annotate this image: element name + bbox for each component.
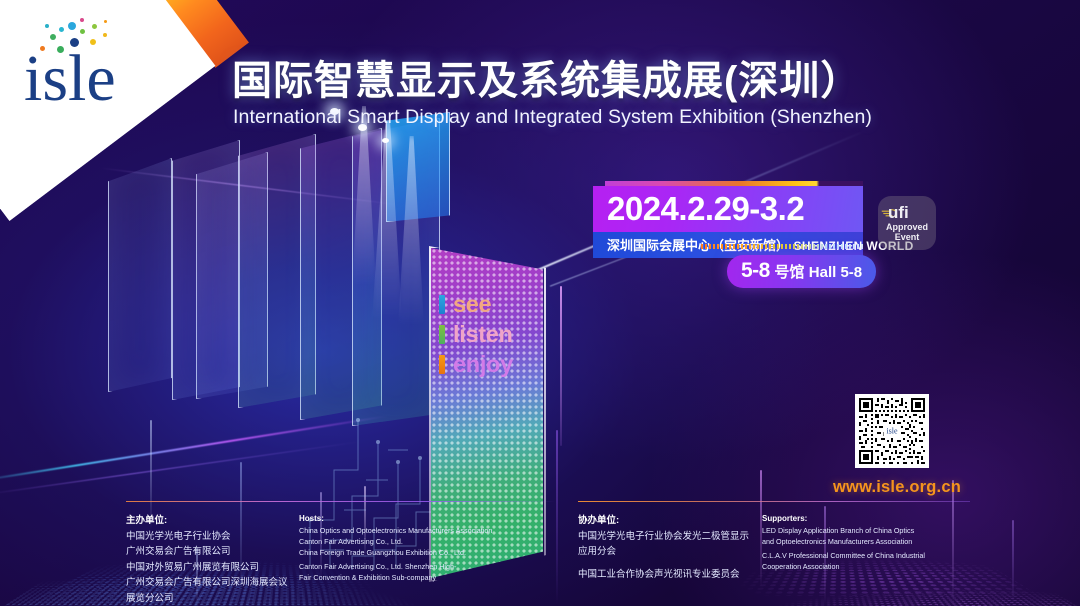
logo-dot — [92, 24, 97, 29]
logo-dot — [80, 18, 84, 22]
footer-divider-right — [578, 501, 970, 502]
logo-dot — [80, 29, 85, 34]
footer-column-hosts-cn: 主办单位: 中国光学光电子行业协会 广州交易会广告有限公司 中国对外贸易广州展览… — [126, 512, 296, 606]
ufi-approved-label: Approved — [878, 222, 936, 232]
logo-dot — [59, 27, 64, 32]
hall-number: 5-8 — [741, 259, 770, 282]
led-slogan-text: see — [453, 291, 491, 317]
footer-line: and Optoelectronics Manufacturers Associ… — [762, 537, 962, 548]
ufi-label: ufi — [888, 203, 946, 222]
hall-label-en: Hall 5-8 — [809, 264, 862, 281]
footer-heading: Hosts: — [299, 514, 509, 523]
footer-line: Cooperation Association — [762, 562, 962, 573]
led-accent-tick — [439, 295, 445, 314]
led-slogan-line: listen — [453, 322, 549, 346]
hall-label-cn: 号馆 — [774, 264, 804, 281]
footer-line: 中国工业合作协会声光视讯专业委员会 — [578, 567, 758, 582]
event-date-block: 2024.2.29-3.2 深圳国际会展中心（宝安新馆） SHENZHEN WO… — [593, 186, 863, 258]
logo-dot — [68, 22, 76, 30]
ufi-event-label: Event — [878, 232, 936, 242]
footer-line: 中国光学光电子行业协会 — [126, 529, 296, 544]
isle-wordmark: isle — [24, 46, 116, 112]
glass-panel — [172, 140, 240, 400]
led-slogan-text: enjoy — [453, 351, 513, 377]
hall-badge: 5-8 号馆 Hall 5-8 — [727, 255, 876, 288]
footer-line: 中国对外贸易广州展览有限公司 — [126, 560, 296, 575]
qr-code-matrix: isle — [859, 398, 925, 464]
isle-exhibition-poster: see listen enjoy isle 国际智慧显 — [0, 0, 1080, 606]
qr-code[interactable]: isle — [855, 394, 929, 468]
event-dates: 2024.2.29-3.2 — [607, 192, 853, 227]
led-accent-tick — [439, 355, 445, 374]
footer-line: LED Display Application Branch of China … — [762, 526, 962, 537]
footer-line: 广州交易会广告有限公司 — [126, 544, 296, 559]
footer-line: Fair Convention & Exhibition Sub-company — [299, 573, 509, 584]
footer-line: Canton Fair Advertising Co., Ltd. Shenzh… — [299, 562, 509, 573]
event-date-banner: 2024.2.29-3.2 — [593, 186, 863, 232]
led-accent-tick — [439, 325, 445, 344]
led-slogan-line: see — [453, 292, 549, 316]
footer-column-supporters-cn: 协办单位: 中国光学光电子行业协会发光二极管显示应用分会 中国工业合作协会声光视… — [578, 512, 758, 582]
footer-line: C.L.A.V Professional Committee of China … — [762, 551, 962, 562]
logo-dot — [45, 24, 49, 28]
led-slogan-text: listen — [453, 321, 513, 347]
footer-line: 广州交易会广告有限公司深圳海展会议展览分公司 — [126, 575, 296, 606]
page-title-en: International Smart Display and Integrat… — [233, 106, 872, 129]
led-slogan-group: see listen enjoy — [453, 292, 549, 383]
footer-line: China Optics and Optoelectronics Manufac… — [299, 526, 509, 537]
qr-center-logo: isle — [884, 425, 901, 438]
footer-heading: 主办单位: — [126, 512, 296, 526]
logo-dot — [50, 34, 56, 40]
vertical-light-bar — [1012, 520, 1014, 606]
footer-line: China Foreign Trade Guangzhou Exhibition… — [299, 548, 509, 559]
page-title-cn: 国际智慧显示及系统集成展(深圳） — [232, 48, 861, 106]
spotlight-point — [382, 138, 389, 143]
logo-dot — [103, 33, 107, 37]
footer-column-supporters-en: Supporters: LED Display Application Bran… — [762, 514, 962, 573]
isle-logo[interactable]: isle — [18, 16, 178, 112]
footer-heading: Supporters: — [762, 514, 962, 523]
display-panel-stack: see listen enjoy — [0, 110, 620, 510]
footer-line: Canton Fair Advertising Co., Ltd. — [299, 537, 509, 548]
glass-panel — [108, 158, 172, 392]
led-slogan-line: enjoy — [453, 352, 549, 376]
website-url[interactable]: www.isle.org.cn — [833, 478, 961, 497]
footer-divider-left — [126, 501, 556, 502]
logo-dot — [104, 20, 107, 23]
dotted-accent-line — [701, 244, 863, 249]
footer-heading: 协办单位: — [578, 512, 758, 526]
footer-column-hosts-en: Hosts: China Optics and Optoelectronics … — [299, 514, 509, 584]
footer-line: 中国光学光电子行业协会发光二极管显示应用分会 — [578, 529, 758, 560]
ufi-approved-event-badge: ufi Approved Event — [878, 196, 936, 250]
